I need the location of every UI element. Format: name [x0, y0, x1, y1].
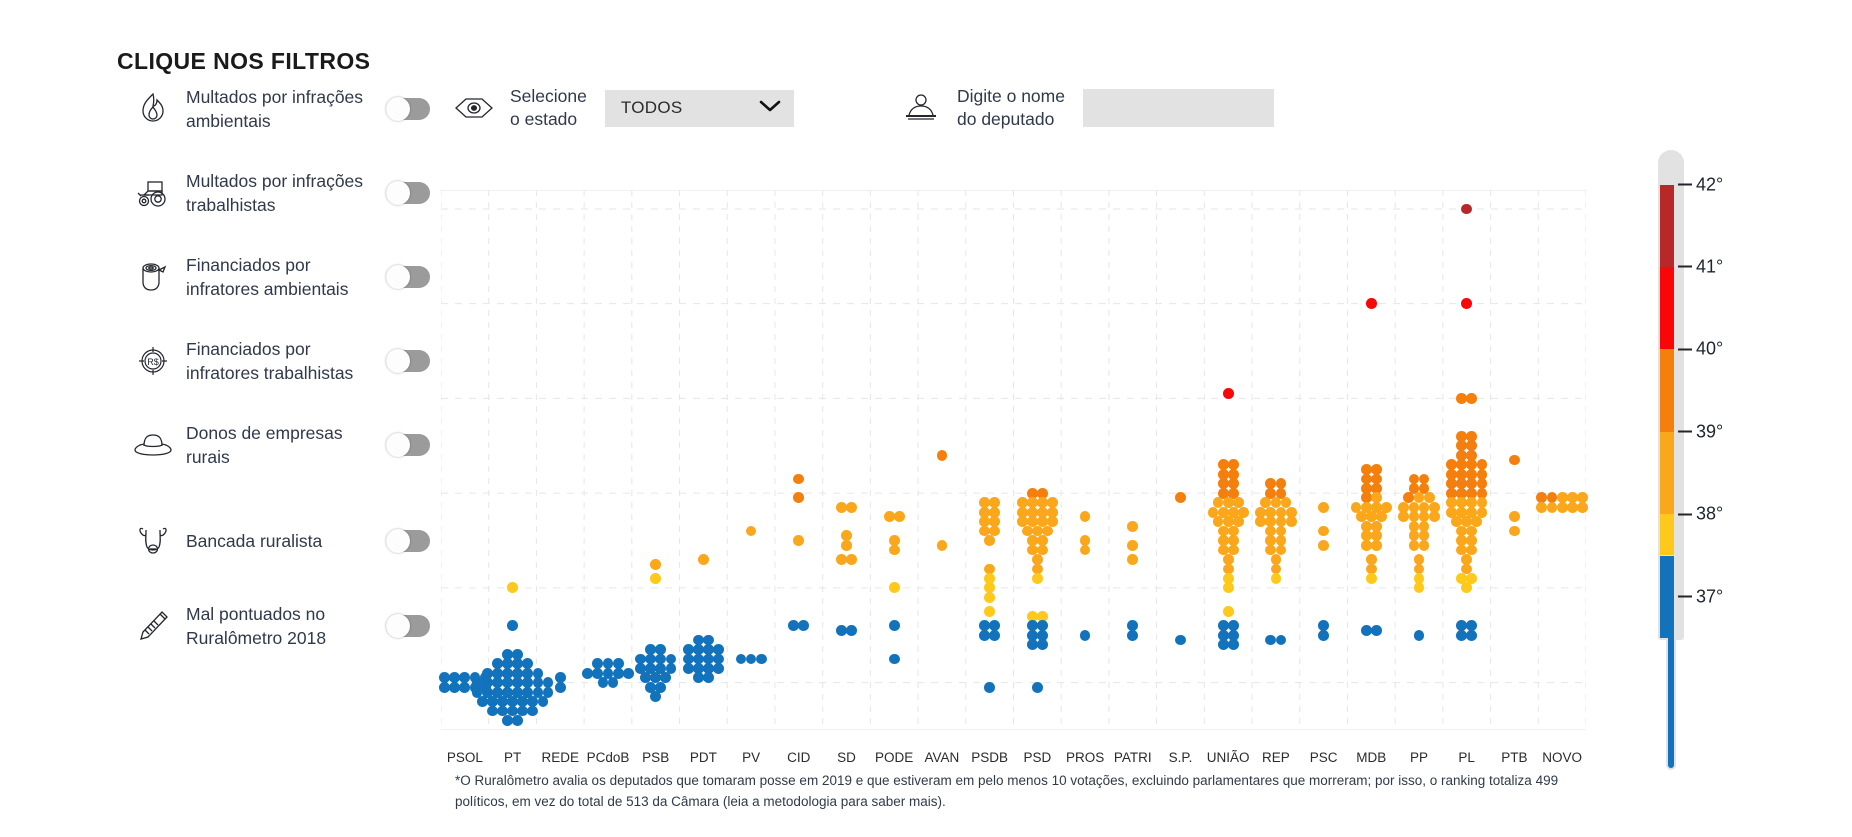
tick-line: [1678, 431, 1692, 433]
data-point[interactable]: [937, 450, 948, 461]
data-point[interactable]: [1271, 573, 1282, 584]
x-axis-tick: SD: [837, 750, 856, 765]
thermometer-tick: 42°: [1678, 174, 1723, 195]
data-point[interactable]: [756, 654, 767, 665]
filter-row-donos-empresas-rurais[interactable]: Donos de empresas rurais: [130, 421, 430, 469]
thermometer-tick: 41°: [1678, 256, 1723, 277]
tick-label: 40°: [1696, 339, 1723, 360]
data-point[interactable]: [1218, 639, 1229, 650]
x-axis-tick: PDT: [690, 750, 717, 765]
data-point[interactable]: [1265, 635, 1276, 646]
data-point[interactable]: [598, 677, 609, 688]
data-point[interactable]: [1536, 502, 1547, 513]
data-point[interactable]: [846, 554, 857, 565]
data-point[interactable]: [1175, 492, 1186, 503]
data-point[interactable]: [1318, 540, 1329, 551]
data-point[interactable]: [1127, 521, 1138, 532]
data-point[interactable]: [736, 654, 747, 665]
data-point[interactable]: [650, 573, 661, 584]
thermometer-tick: 37°: [1678, 586, 1723, 607]
filter-row-multados-ambientais[interactable]: Multados por infrações ambientais: [130, 85, 430, 133]
thermometer-band: [1660, 432, 1674, 515]
filters-panel: CLIQUE NOS FILTROS Multados por infraçõe…: [0, 0, 440, 837]
data-point[interactable]: [1398, 511, 1409, 522]
x-axis-tick: S.P.: [1169, 750, 1193, 765]
data-point[interactable]: [1461, 298, 1472, 309]
data-point[interactable]: [989, 630, 1000, 641]
thermometer-band: [1660, 556, 1674, 639]
data-point[interactable]: [1228, 639, 1239, 650]
tick-label: 39°: [1696, 421, 1723, 442]
data-point[interactable]: [1409, 540, 1420, 551]
filter-toggle[interactable]: [386, 182, 430, 204]
x-axis-tick: REDE: [542, 750, 580, 765]
thermometer-band: [1660, 514, 1674, 555]
data-point[interactable]: [889, 582, 900, 593]
data-point[interactable]: [1032, 573, 1043, 584]
data-point[interactable]: [1509, 526, 1520, 537]
thermometer-tick: 38°: [1678, 504, 1723, 525]
data-point[interactable]: [884, 511, 895, 522]
data-point[interactable]: [746, 526, 757, 537]
state-filter-control: Selecione o estado TODOS: [448, 85, 794, 131]
thermometer-tick: 39°: [1678, 421, 1723, 442]
data-point[interactable]: [527, 706, 538, 717]
data-point[interactable]: [1318, 502, 1329, 513]
x-axis-tick: REP: [1262, 750, 1290, 765]
data-point[interactable]: [1080, 511, 1091, 522]
deputy-search-input[interactable]: [1083, 89, 1274, 127]
data-point[interactable]: [1466, 630, 1477, 641]
deputy-search-control: Digite o nome do deputado: [895, 85, 1274, 131]
tick-label: 41°: [1696, 256, 1723, 277]
x-axis-tick: PT: [504, 750, 521, 765]
data-point[interactable]: [1547, 502, 1558, 513]
data-point[interactable]: [937, 540, 948, 551]
x-axis-tick: PSB: [642, 750, 669, 765]
x-axis-tick: PSDB: [971, 750, 1008, 765]
data-point[interactable]: [984, 606, 995, 617]
data-point[interactable]: [713, 663, 724, 674]
x-axis-labels: PSOLPTREDEPCdoBPSBPDTPVCIDSDPODEAVANPSDB…: [441, 750, 1601, 770]
thermometer-band: [1660, 267, 1674, 350]
filters-title: CLIQUE NOS FILTROS: [117, 48, 370, 75]
tick-line: [1678, 596, 1692, 598]
data-point[interactable]: [1276, 635, 1287, 646]
data-point[interactable]: [512, 715, 523, 726]
filter-row-mal-pontuados[interactable]: Mal pontuados no Ruralômetro 2018: [130, 602, 430, 650]
data-point[interactable]: [608, 677, 619, 688]
tick-label: 42°: [1696, 174, 1723, 195]
data-point[interactable]: [984, 535, 995, 546]
data-point[interactable]: [1318, 630, 1329, 641]
filter-toggle[interactable]: [386, 98, 430, 120]
data-point[interactable]: [650, 691, 661, 702]
tick-line: [1678, 348, 1692, 350]
log-stump-icon: [130, 254, 176, 300]
data-point[interactable]: [889, 654, 900, 665]
data-point[interactable]: [793, 492, 804, 503]
filter-toggle[interactable]: [386, 530, 430, 552]
data-point[interactable]: [889, 620, 900, 631]
x-axis-tick: PSC: [1310, 750, 1338, 765]
data-point[interactable]: [798, 620, 809, 631]
x-axis-tick: PCdoB: [587, 750, 630, 765]
data-point[interactable]: [846, 625, 857, 636]
filter-label: Multados por infrações trabalhistas: [176, 169, 378, 217]
data-point[interactable]: [459, 682, 470, 693]
data-point[interactable]: [1557, 502, 1568, 513]
data-point[interactable]: [889, 545, 900, 556]
x-axis-tick: PSOL: [447, 750, 483, 765]
data-point[interactable]: [1414, 630, 1425, 641]
x-axis-tick: PV: [742, 750, 760, 765]
tick-label: 38°: [1696, 504, 1723, 525]
data-point[interactable]: [1127, 540, 1138, 551]
data-point[interactable]: [1175, 635, 1186, 646]
data-point[interactable]: [746, 654, 757, 665]
x-axis-tick: UNIÃO: [1207, 750, 1250, 765]
tick-label: 37°: [1696, 586, 1723, 607]
data-point[interactable]: [1223, 582, 1234, 593]
data-point[interactable]: [1577, 502, 1588, 513]
x-axis-tick: PROS: [1066, 750, 1104, 765]
data-point[interactable]: [1366, 573, 1377, 584]
thermometer-bands: [1660, 168, 1674, 638]
filter-toggle[interactable]: [386, 615, 430, 637]
data-point[interactable]: [1361, 540, 1372, 551]
data-point[interactable]: [841, 540, 852, 551]
data-point[interactable]: [1371, 625, 1382, 636]
data-point[interactable]: [477, 696, 488, 707]
data-point[interactable]: [1127, 554, 1138, 565]
tractor-icon: [130, 170, 176, 216]
thermometer-tick: 40°: [1678, 339, 1723, 360]
filter-label: Financiados por infratores trabalhistas: [176, 337, 378, 385]
filter-row-multados-trabalhistas[interactable]: Multados por infrações trabalhistas: [130, 169, 430, 217]
x-axis-tick: PODE: [875, 750, 913, 765]
data-point[interactable]: [1461, 204, 1472, 215]
x-axis-tick: MDB: [1356, 750, 1386, 765]
data-point[interactable]: [698, 554, 709, 565]
state-filter-label: Selecione o estado: [510, 85, 587, 131]
data-point[interactable]: [1429, 511, 1440, 522]
money-coin-icon: R$: [130, 338, 176, 384]
tick-line: [1678, 184, 1692, 186]
chart-data-points: [441, 190, 1586, 730]
data-point[interactable]: [507, 582, 518, 593]
data-point[interactable]: [1414, 582, 1425, 593]
filter-row-bancada-ruralista[interactable]: Bancada ruralista: [130, 518, 430, 564]
data-point[interactable]: [1223, 388, 1234, 399]
data-point[interactable]: [1419, 540, 1430, 551]
thermometer-band: [1660, 349, 1674, 432]
data-point[interactable]: [1466, 393, 1477, 404]
x-axis-tick: PSD: [1024, 750, 1052, 765]
thermometer-legend: 42°41°40°39°38°37°: [1648, 150, 1848, 650]
data-point[interactable]: [683, 663, 694, 674]
tick-line: [1678, 266, 1692, 268]
state-select[interactable]: TODOS: [605, 90, 794, 127]
data-point[interactable]: [1032, 682, 1043, 693]
state-select-value: TODOS: [621, 98, 758, 118]
filter-toggle[interactable]: [386, 350, 430, 372]
data-point[interactable]: [703, 672, 714, 683]
x-axis-tick: CID: [787, 750, 810, 765]
eye-icon: [448, 86, 500, 130]
thermometer-pen-icon: [130, 603, 176, 649]
data-point[interactable]: [1080, 545, 1091, 556]
data-point[interactable]: [984, 592, 995, 603]
filter-label: Donos de empresas rurais: [176, 421, 378, 469]
filter-label: Mal pontuados no Ruralômetro 2018: [176, 602, 378, 650]
data-point[interactable]: [1361, 625, 1372, 636]
data-point[interactable]: [1509, 455, 1520, 466]
x-axis-tick: PATRI: [1114, 750, 1152, 765]
data-point[interactable]: [650, 559, 661, 570]
data-point[interactable]: [623, 668, 634, 679]
chevron-down-icon: [758, 98, 782, 119]
deputy-search-label: Digite o nome do deputado: [957, 85, 1065, 131]
filter-row-financiados-trabalhistas[interactable]: R$ Financiados por infratores trabalhist…: [130, 337, 430, 385]
data-point[interactable]: [894, 511, 905, 522]
data-point[interactable]: [1509, 511, 1520, 522]
data-point[interactable]: [1127, 630, 1138, 641]
tick-line: [1678, 513, 1692, 515]
person-stamp-icon: [895, 86, 947, 130]
data-point[interactable]: [555, 682, 566, 693]
beeswarm-chart: [441, 190, 1586, 730]
filter-toggle[interactable]: [386, 434, 430, 456]
data-point[interactable]: [1366, 298, 1377, 309]
data-point[interactable]: [1461, 582, 1472, 593]
data-point[interactable]: [1080, 630, 1091, 641]
x-axis-tick: PP: [1410, 750, 1428, 765]
data-point[interactable]: [793, 535, 804, 546]
x-axis-tick: PL: [1458, 750, 1475, 765]
filter-label: Financiados por infratores ambientais: [176, 253, 378, 301]
data-point[interactable]: [793, 474, 804, 485]
data-point[interactable]: [1318, 526, 1329, 537]
data-point[interactable]: [1037, 639, 1048, 650]
thermometer-band: [1660, 185, 1674, 268]
chart-footnote: *O Ruralômetro avalia os deputados que t…: [455, 770, 1605, 812]
filter-row-financiados-ambientais[interactable]: Financiados por infratores ambientais: [130, 253, 430, 301]
ox-head-icon: [130, 518, 176, 564]
data-point[interactable]: [984, 682, 995, 693]
x-axis-tick: AVAN: [925, 750, 960, 765]
filter-label: Multados por infrações ambientais: [176, 85, 378, 133]
data-point[interactable]: [1223, 606, 1234, 617]
x-axis-tick: NOVO: [1542, 750, 1582, 765]
cowboy-hat-icon: [130, 422, 176, 468]
filter-label: Bancada ruralista: [176, 529, 378, 553]
data-point[interactable]: [846, 502, 857, 513]
data-point[interactable]: [507, 620, 518, 631]
svg-text:R$: R$: [147, 357, 159, 367]
thermometer-stem-fill: [1668, 620, 1674, 768]
flame-icon: [130, 86, 176, 132]
data-point[interactable]: [1286, 516, 1297, 527]
data-point[interactable]: [538, 696, 549, 707]
filter-toggle[interactable]: [386, 266, 430, 288]
x-axis-tick: PTB: [1501, 750, 1527, 765]
data-point[interactable]: [1371, 540, 1382, 551]
